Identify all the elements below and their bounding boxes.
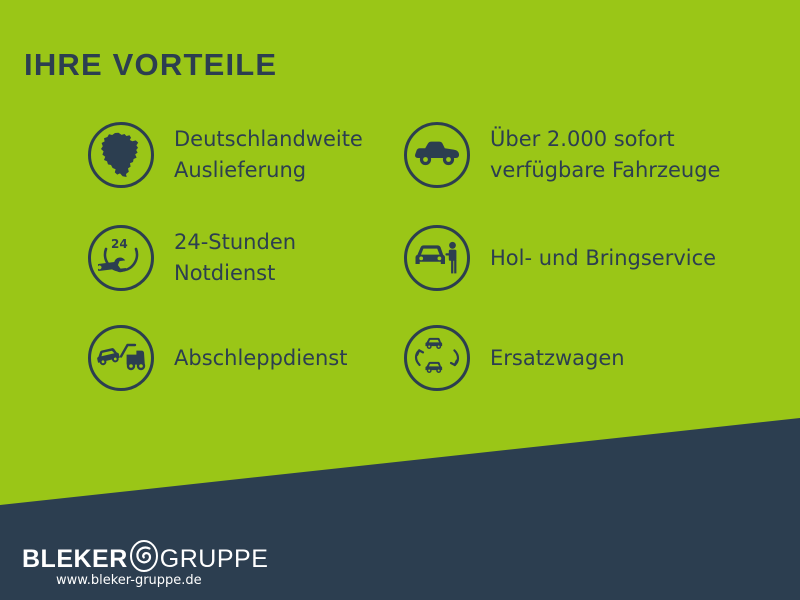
spiral-logo-icon: [129, 540, 159, 572]
germany-map-icon: [88, 122, 154, 188]
benefit-item-verfuegbare-fahrzeuge: Über 2.000 sofort verfügbare Fahrzeuge: [404, 122, 720, 188]
two-cars-swap-icon: [404, 325, 470, 391]
company-logo[interactable]: BLEKER GRUPPE: [22, 540, 268, 573]
benefit-item-label: Abschleppdienst: [174, 343, 347, 374]
benefit-item-label: 24-Stunden Notdienst: [174, 227, 296, 289]
benefit-item-label: Deutschlandweite Auslieferung: [174, 124, 363, 186]
car-side-icon: [404, 122, 470, 188]
benefit-item-label: Ersatzwagen: [490, 343, 625, 374]
benefit-item-label: Hol- und Bringservice: [490, 243, 716, 274]
slide-canvas: IHRE VORTEILE Deutschlandweite Ausliefer…: [0, 0, 800, 600]
benefit-item-24-stunden-notdienst: 24 24-Stunden Notdienst: [88, 225, 296, 291]
page-title: IHRE VORTEILE: [24, 47, 277, 83]
logo-gruppe-text: GRUPPE: [160, 545, 269, 573]
car-person-icon: [404, 225, 470, 291]
tow-truck-icon: [88, 325, 154, 391]
benefit-item-label: Über 2.000 sofort verfügbare Fahrzeuge: [490, 124, 720, 186]
24-hour-wrench-icon: 24: [88, 225, 154, 291]
benefit-item-hol-und-bringservice: Hol- und Bringservice: [404, 225, 716, 291]
benefit-item-deutschlandweite-auslieferung: Deutschlandweite Auslieferung: [88, 122, 363, 188]
badge-24-text: 24: [111, 237, 128, 251]
footer-diagonal-band: [0, 0, 800, 600]
logo-bleker-text: BLEKER: [22, 545, 128, 573]
website-url[interactable]: www.bleker-gruppe.de: [56, 573, 202, 588]
benefit-item-ersatzwagen: Ersatzwagen: [404, 325, 625, 391]
benefit-item-abschleppdienst: Abschleppdienst: [88, 325, 347, 391]
